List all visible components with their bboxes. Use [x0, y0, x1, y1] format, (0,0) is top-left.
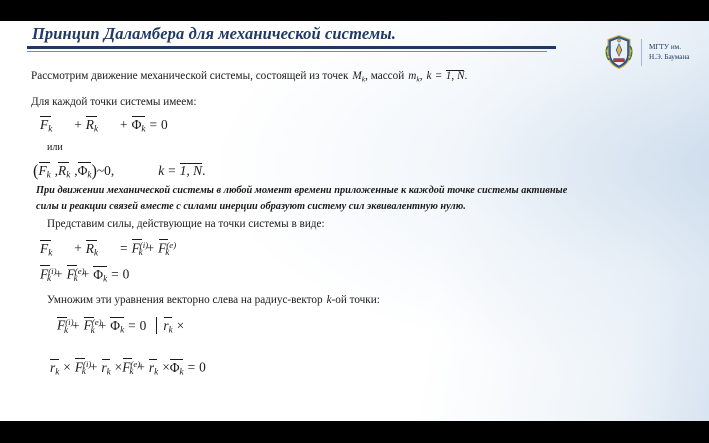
- eq3-plus-1: +: [74, 241, 82, 256]
- eq6-zero: 0: [199, 360, 206, 375]
- eq2-R: Rk: [58, 163, 70, 180]
- multiply-text-a: Умножим эти уравнения векторно слева на …: [47, 294, 323, 306]
- eq1-Phi: Φk: [132, 117, 146, 134]
- eq6-cross-3: ×: [162, 360, 170, 375]
- eq6-F-internal: F(i)k: [75, 359, 86, 376]
- eq5-equals: =: [128, 318, 136, 333]
- eq4-Phi: Φk: [93, 267, 107, 284]
- letterbox-bottom: [0, 421, 709, 443]
- eq2-F: Fk: [38, 163, 50, 180]
- eq5-operator-separator: [156, 317, 157, 334]
- equation-1: Fk+Rk+Φk=0: [40, 117, 168, 134]
- eq4-F-external: F(e)k: [67, 266, 78, 283]
- eq2-period: .: [202, 163, 205, 178]
- eq2-trailing-comma: ,: [111, 163, 114, 178]
- intro-period: .: [464, 70, 467, 82]
- eq3-F-external: F(e)k: [158, 240, 169, 257]
- eq2-Phi: Φk: [78, 163, 92, 180]
- equation-2: (Fk,Rk,Φk)~0,k=1, N.: [33, 161, 205, 181]
- eq2-range: 1, N: [180, 163, 202, 178]
- slide-body: Рассмотрим движение механической системы…: [0, 21, 709, 421]
- equation-6: rk×F(i)k+rk×F(e)k+rk×Φk=0: [50, 359, 206, 376]
- eq4-F-internal: F(i)k: [40, 266, 51, 283]
- or-label: или: [47, 142, 63, 153]
- multiply-paragraph: Умножим эти уравнения векторно слева на …: [47, 294, 380, 306]
- intro-paragraph-line-2: Для каждой точки системы имеем:: [31, 96, 196, 108]
- eq1-zero: 0: [161, 117, 168, 132]
- eq5-F-external: F(e)k: [84, 317, 95, 334]
- eq4-equals: =: [111, 267, 119, 282]
- intro-paragraph-line-1: Рассмотрим движение механической системы…: [31, 70, 467, 83]
- eq6-r-1: rk: [50, 360, 59, 377]
- eq5-zero: 0: [140, 318, 147, 333]
- intro-equals: =: [435, 70, 441, 82]
- statement-line-1: При движении механической системы в любо…: [36, 185, 567, 196]
- symbol-k: k: [427, 70, 432, 82]
- eq1-plus-2: +: [120, 117, 128, 132]
- symbol-M: M: [352, 70, 361, 82]
- intro-text-a: Рассмотрим движение механической системы…: [31, 70, 348, 82]
- eq1-plus-1: +: [74, 117, 82, 132]
- eq6-r-2: rk: [101, 360, 110, 377]
- eq6-r-3: rk: [149, 360, 158, 377]
- letterbox-top: [0, 0, 709, 21]
- statement-line-2: силы и реакции связей вместе с силами ин…: [36, 201, 466, 212]
- eq1-F: Fk: [40, 117, 52, 134]
- intro-index-range: 1, N: [446, 70, 465, 83]
- eq6-Phi: Φk: [170, 360, 184, 377]
- eq6-cross-1: ×: [63, 360, 71, 375]
- presentation-slide: Принцип Даламбера для механической систе…: [0, 21, 709, 421]
- eq1-R: Rk: [86, 117, 98, 134]
- eq1-equals: =: [149, 117, 157, 132]
- eq5-cross: ×: [177, 318, 185, 333]
- equation-4: F(i)k+F(e)k+Φk=0: [40, 266, 129, 283]
- eq2-k: k: [158, 163, 164, 178]
- eq5-Phi: Φk: [110, 318, 124, 335]
- eq3-R: Rk: [86, 241, 98, 258]
- intro-text-b: , массой: [365, 70, 404, 82]
- equation-5: F(i)k+F(e)k+Φk=0rk×: [57, 317, 184, 335]
- eq5-F-internal: F(i)k: [57, 317, 68, 334]
- eq3-F-internal: F(i)k: [132, 240, 143, 257]
- eq2-zero: 0: [104, 163, 111, 178]
- eq5-r: rk: [163, 318, 172, 335]
- eq4-zero: 0: [123, 267, 130, 282]
- present-forces-paragraph: Представим силы, действующие на точки си…: [47, 218, 325, 230]
- eq3-F-left: Fk: [40, 241, 52, 258]
- eq2-equals: =: [168, 163, 176, 178]
- eq3-equals: =: [120, 241, 128, 256]
- equation-3: Fk+Rk=F(i)k+F(e)k: [40, 240, 169, 257]
- eq6-F-external: F(e)k: [122, 359, 133, 376]
- multiply-text-b: -ой точки:: [332, 294, 380, 306]
- eq6-equals: =: [188, 360, 196, 375]
